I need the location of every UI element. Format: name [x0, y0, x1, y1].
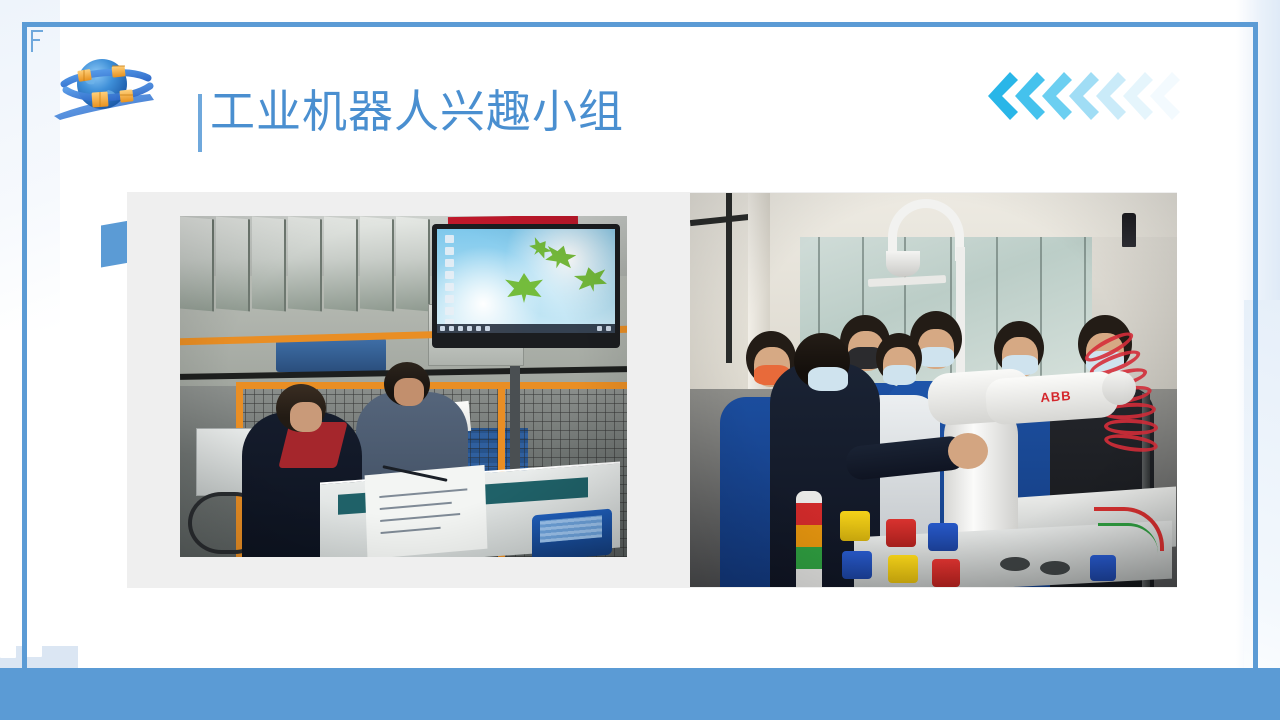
blue-machine — [276, 338, 386, 372]
page-title: 工业机器人兴趣小组 — [210, 80, 624, 144]
workpiece-blue — [1090, 555, 1116, 581]
maple-leaf-wallpaper — [505, 273, 543, 303]
stack-light-cap — [796, 491, 822, 503]
photo-workshop-instruction — [180, 216, 627, 557]
photo-abb-robot-demo: ABB — [690, 193, 1177, 587]
tick-vertical — [31, 30, 33, 52]
person-background-face — [394, 378, 424, 406]
locating-disk — [1040, 561, 1070, 575]
slide-canvas: 工业机器人兴趣小组 — [0, 0, 1280, 720]
title-divider-rule — [198, 94, 202, 152]
workpiece-red — [932, 559, 960, 587]
stack-light-red — [796, 503, 822, 525]
face-mask-icon — [883, 365, 916, 385]
stack-light-green — [796, 547, 822, 569]
tick-horizontal — [31, 39, 40, 41]
globe-logistics-logo — [50, 50, 162, 124]
wall-display — [432, 224, 620, 348]
handwritten-notes — [365, 465, 488, 557]
workpiece-blue — [842, 551, 872, 579]
instructor-hand — [948, 433, 988, 469]
workpiece-red — [886, 519, 916, 547]
abb-brand-label: ABB — [1033, 387, 1078, 406]
stack-light-base — [796, 569, 822, 587]
dash-mark — [0, 644, 16, 658]
stack-light-amber — [796, 525, 822, 547]
robot-wrist-joint — [1102, 371, 1136, 405]
desktop-taskbar — [437, 324, 615, 333]
workpiece-yellow — [840, 511, 870, 541]
person-foreground-face — [290, 402, 322, 432]
bottle-on-shelf — [1122, 213, 1136, 247]
tick-horizontal — [31, 30, 43, 32]
chevron-decoration — [976, 54, 1226, 134]
workpiece-yellow — [888, 555, 918, 583]
workshop-windows — [180, 218, 430, 314]
chevron-left-icon — [1138, 68, 1180, 124]
workpiece-blue — [928, 523, 958, 551]
maple-leaf-wallpaper — [573, 264, 609, 295]
dome-camera-icon — [886, 251, 920, 277]
face-mask-icon — [808, 367, 848, 391]
slide-header: 工业机器人兴趣小组 — [46, 44, 1226, 136]
locating-disk — [1000, 557, 1030, 571]
desktop-icons — [441, 233, 463, 329]
maple-leaf-wallpaper — [542, 241, 578, 273]
signal-stack-light — [796, 491, 822, 587]
desktop-screen — [437, 229, 615, 333]
